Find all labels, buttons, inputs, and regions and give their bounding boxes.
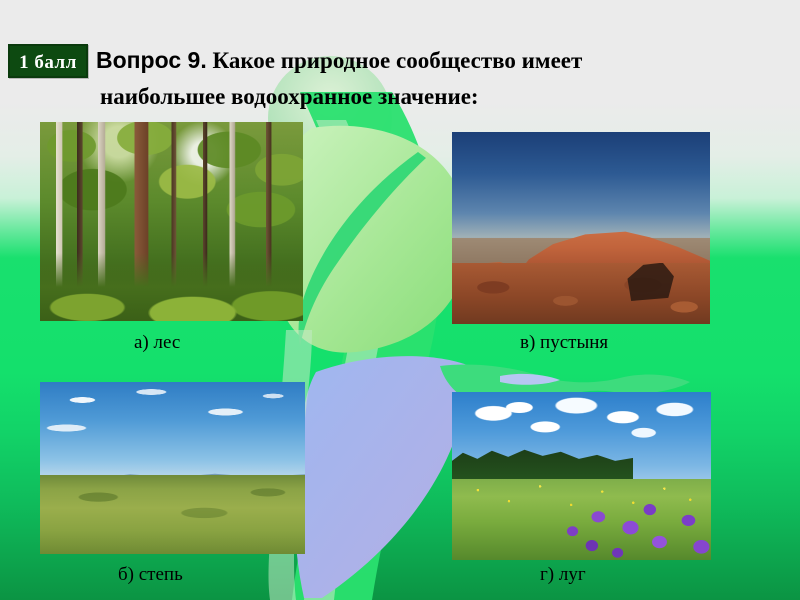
meadow-purple-flowers-layer xyxy=(550,500,711,560)
globe-disc-graphic xyxy=(294,356,470,598)
forest-floor-layer xyxy=(40,253,303,321)
slide-header: 1 балл Вопрос 9. Какое природное сообщес… xyxy=(0,0,800,118)
desert-photo[interactable] xyxy=(452,132,710,324)
continent-3-graphic xyxy=(500,374,560,385)
slide-canvas: 1 балл Вопрос 9. Какое природное сообщес… xyxy=(0,0,800,600)
meadow-photo-art xyxy=(452,392,711,560)
question-number: Вопрос 9. xyxy=(96,47,207,73)
forest-photo-art xyxy=(40,122,303,321)
points-badge: 1 балл xyxy=(8,44,88,78)
desert-photo-art xyxy=(452,132,710,324)
desert-sky-layer xyxy=(452,132,710,251)
question-text: Вопрос 9. Какое природное сообщество име… xyxy=(96,42,756,115)
desert-ground-layer xyxy=(452,263,710,324)
question-line-1: Какое природное сообщество имеет xyxy=(207,48,583,73)
answer-label-g[interactable]: г) луг xyxy=(540,563,586,587)
meadow-photo[interactable] xyxy=(452,392,711,560)
answer-label-v[interactable]: в) пустыня xyxy=(520,331,608,355)
forest-photo[interactable] xyxy=(40,122,303,321)
steppe-photo-art xyxy=(40,382,305,554)
answer-label-a[interactable]: а) лес xyxy=(134,331,180,355)
leaf-graphic xyxy=(274,126,468,353)
leaf-midrib-graphic xyxy=(299,152,427,346)
question-line-2: наибольшее водоохранное значение: xyxy=(96,79,756,115)
steppe-clouds-layer xyxy=(40,382,305,482)
answer-label-b[interactable]: б) степь xyxy=(118,563,183,587)
stem-highlight-graphic xyxy=(304,120,385,600)
steppe-grass-layer xyxy=(40,475,305,554)
steppe-photo[interactable] xyxy=(40,382,305,554)
stem-arc-graphic xyxy=(292,92,440,600)
